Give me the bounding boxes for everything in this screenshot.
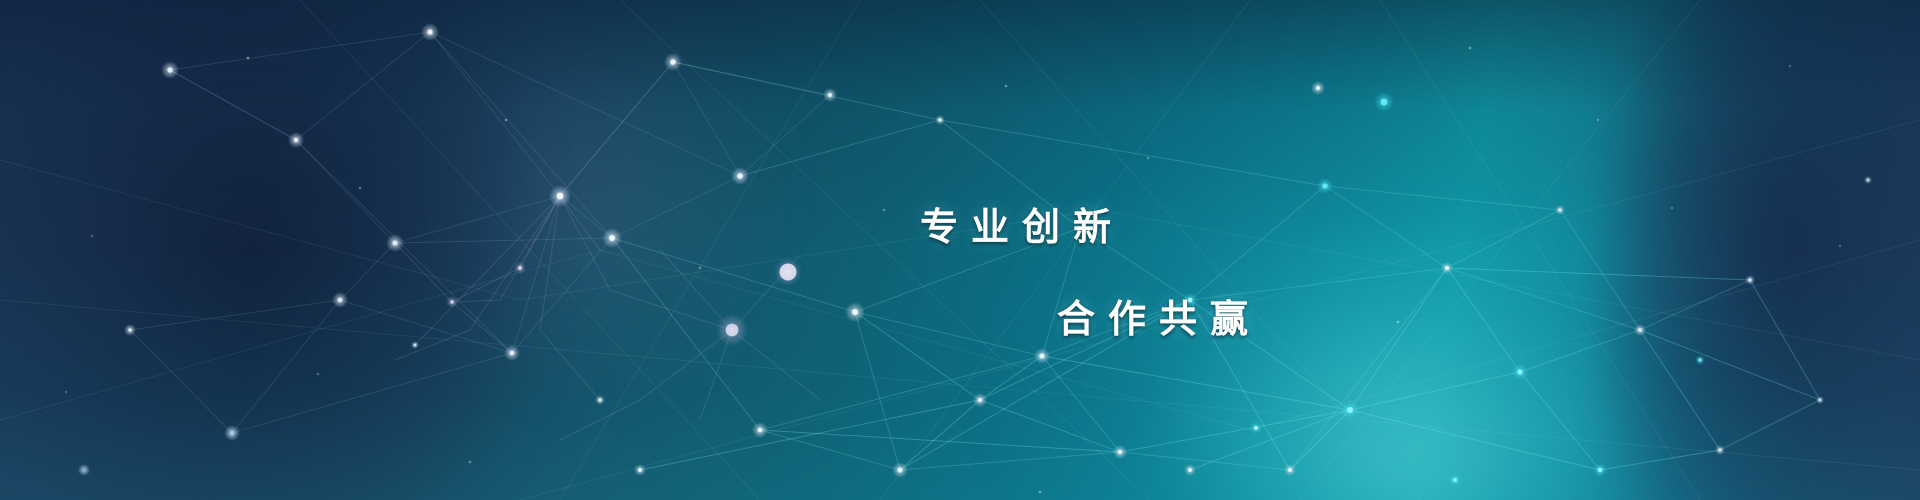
network-nodes-white [78,23,1872,478]
network-nodes-cyan [1183,92,1705,486]
network-nodes-violet [514,258,802,346]
hero-banner: 专业创新 合作共赢 [0,0,1920,500]
network-edges-left [130,32,830,433]
network-edges-bright [640,268,1820,470]
network-graphic [0,0,1920,500]
network-dust [65,47,1841,494]
network-edges-sweep [0,0,1920,500]
